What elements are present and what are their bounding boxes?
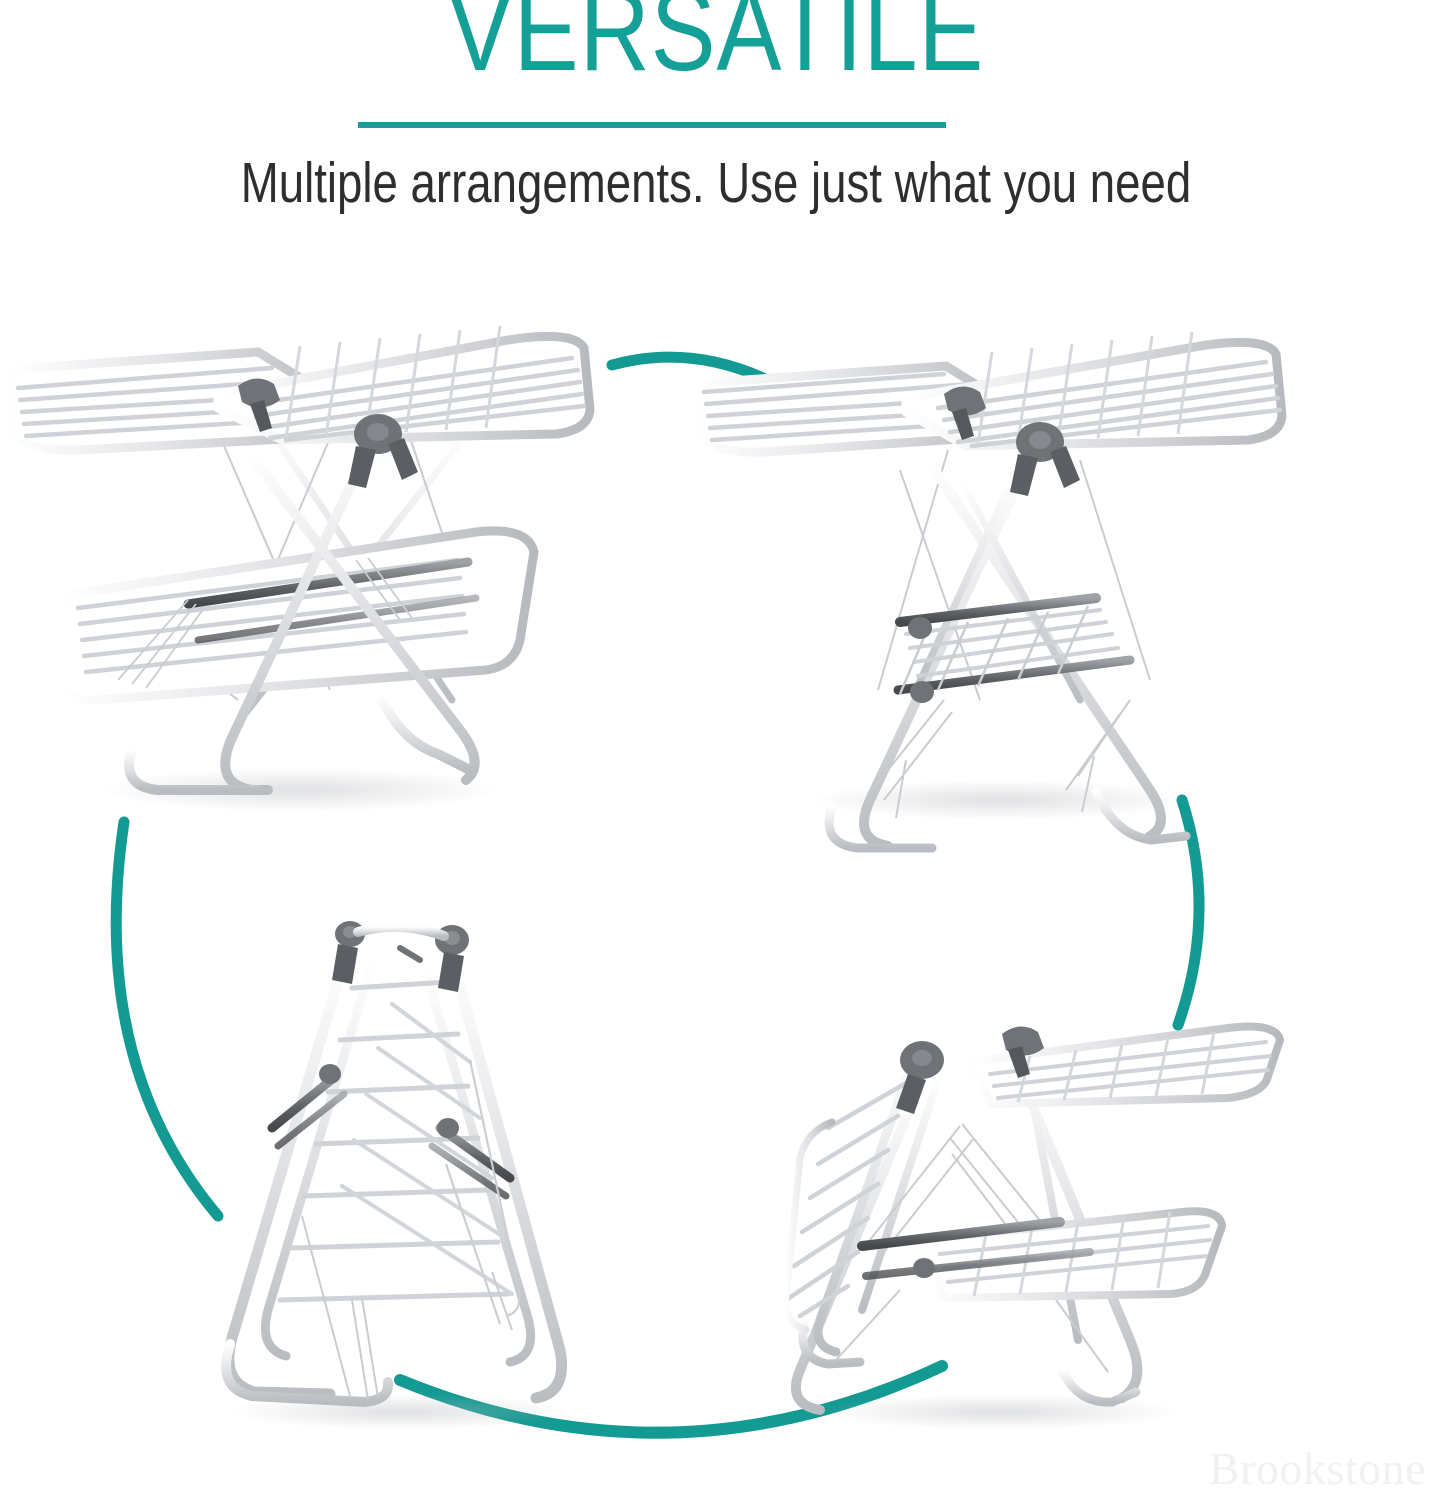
arrow-left <box>116 822 218 1216</box>
brand-watermark: Brookstone <box>1209 1444 1426 1494</box>
rack-config-1 <box>9 326 590 812</box>
rack-config-3-hinge <box>332 921 469 992</box>
rack-config-3 <box>226 921 570 1430</box>
configuration-diagram <box>0 0 1432 1500</box>
rack-config-2 <box>695 332 1282 848</box>
rack-config-1-right-wing <box>218 326 590 440</box>
rack-config-2-folded-shelf <box>898 598 1130 694</box>
rack-config-1-lower-shelf <box>60 531 534 700</box>
rack-config-3-rear-panel <box>342 1004 512 1294</box>
rack-config-4-lower-shelf <box>862 1211 1222 1298</box>
rack-config-4 <box>785 1026 1280 1430</box>
infographic-canvas: VERSATILE Multiple arrangements. Use jus… <box>0 0 1432 1500</box>
diagram-svg <box>0 0 1432 1500</box>
